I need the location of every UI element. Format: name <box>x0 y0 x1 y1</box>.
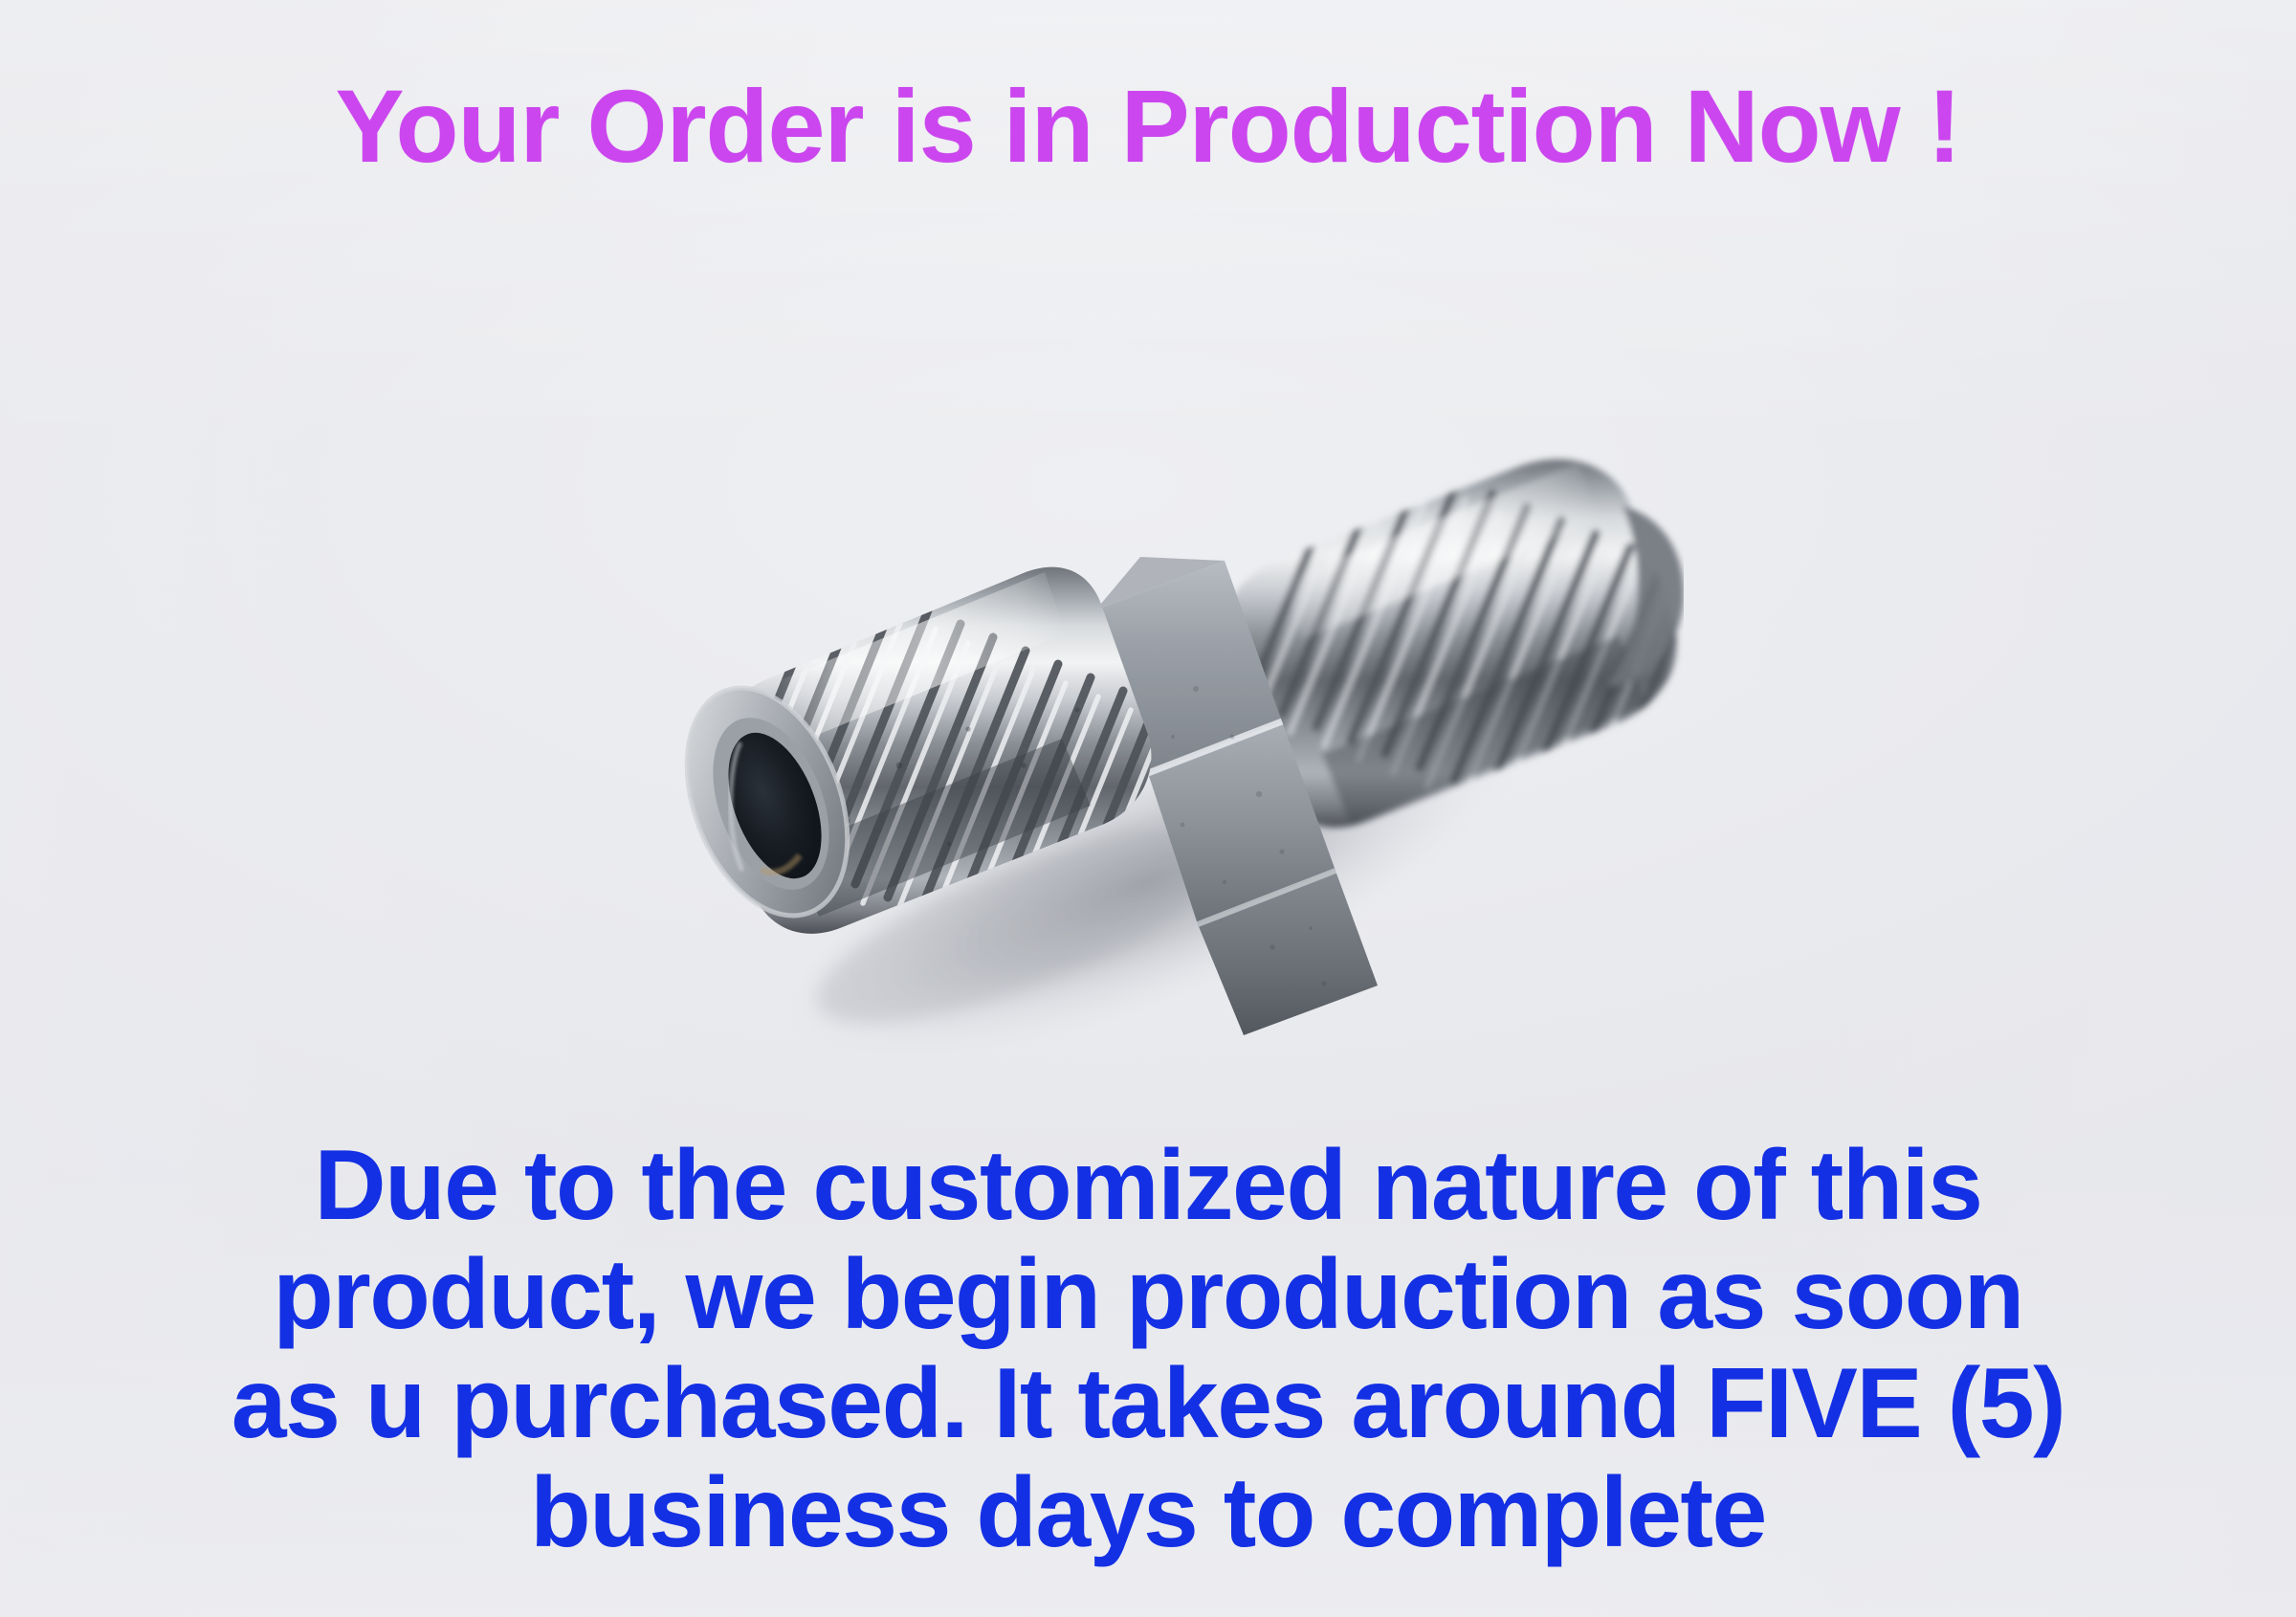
promotional-banner: Your Order is in Production Now ! <box>0 0 2296 1617</box>
headline-order-in-production: Your Order is in Production Now ! <box>0 75 2296 178</box>
copy-line-1: Due to the customized nature of this <box>0 1131 2296 1240</box>
copy-line-4: business days to complete <box>0 1458 2296 1567</box>
copy-line-2: product, we begin production as soon <box>0 1240 2296 1349</box>
copy-line-3: as u purchased. It takes around FIVE (5) <box>0 1349 2296 1458</box>
production-lead-time-message: Due to the customized nature of this pro… <box>0 1131 2296 1567</box>
product-image-hex-nipple <box>612 450 1684 1177</box>
